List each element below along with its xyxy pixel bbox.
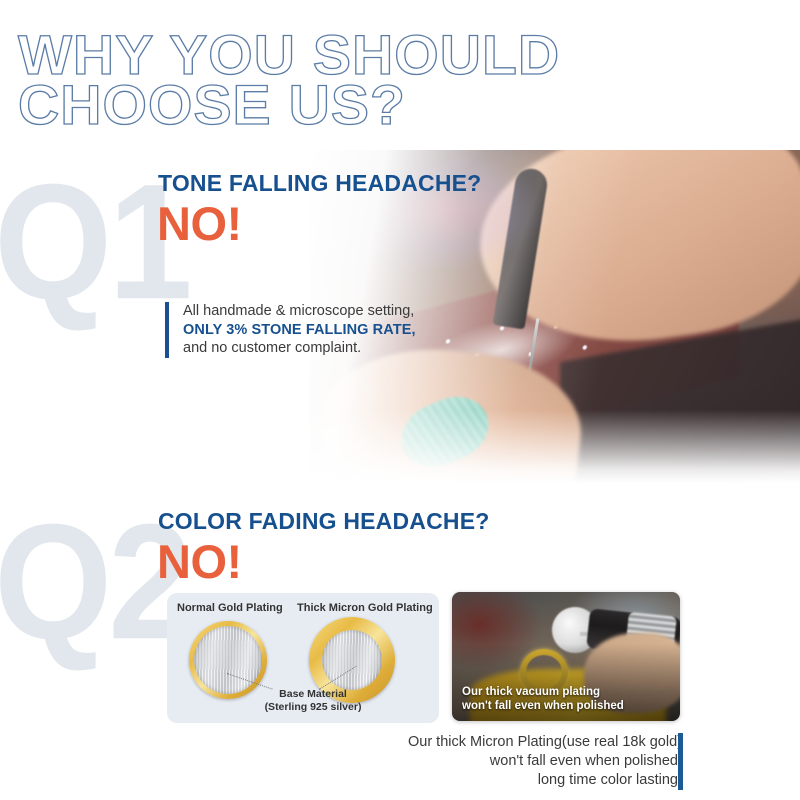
photo-caption-line-2: won't fall even when polished: [462, 699, 624, 713]
q1-answer: NO!: [157, 196, 242, 251]
q2-answer: NO!: [157, 534, 242, 589]
headline-line-2: CHOOSE US?: [18, 80, 793, 130]
q1-question-title: TONE FALLING HEADACHE?: [158, 170, 481, 197]
bottom-caption-line-2: won't fall even when polished,: [342, 752, 682, 771]
photo-caption: Our thick vacuum plating won't fall even…: [462, 685, 624, 713]
base-material-caption-line-2: (Sterling 925 silver): [233, 701, 393, 714]
q1-body-line-2: ONLY 3% STONE FALLING RATE,: [183, 321, 416, 340]
q1-body-text: All handmade & microscope setting, ONLY …: [165, 302, 416, 358]
ring-polishing-photo: Our thick vacuum plating won't fall even…: [452, 592, 680, 721]
bottom-caption-line-3: long time color lasting.: [342, 771, 682, 790]
page-title: WHY YOU SHOULD CHOOSE US?: [18, 30, 778, 130]
q2-question-title: COLOR FADING HEADACHE?: [158, 508, 490, 535]
q1-body-line-1: All handmade & microscope setting,: [183, 302, 416, 321]
silver-base-material: [194, 626, 262, 694]
normal-plating-label: Normal Gold Plating: [177, 602, 283, 614]
base-material-caption-line-1: Base Material: [233, 688, 393, 701]
photo-caption-line-1: Our thick vacuum plating: [462, 685, 624, 699]
q1-body-line-3: and no customer complaint.: [183, 339, 416, 358]
bottom-caption-rule: [678, 733, 683, 790]
plating-comparison-diagram: Normal Gold Plating Thick Micron Gold Pl…: [167, 593, 439, 723]
base-material-caption: Base Material (Sterling 925 silver): [233, 688, 393, 713]
bottom-caption-line-1: Our thick Micron Plating(use real 18k go…: [342, 733, 682, 752]
bottom-caption: Our thick Micron Plating(use real 18k go…: [342, 733, 682, 790]
thick-plating-label: Thick Micron Gold Plating: [297, 602, 433, 614]
